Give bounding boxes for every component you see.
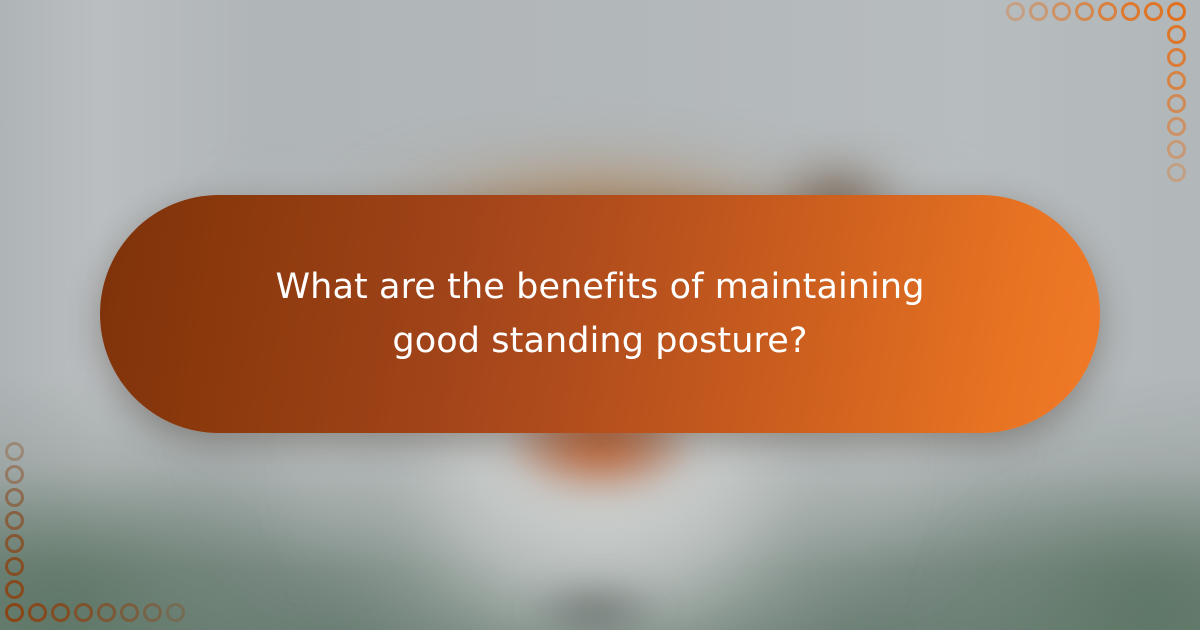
- background-shadow: [520, 575, 670, 630]
- page-title: What are the benefits of maintaining goo…: [220, 260, 980, 369]
- headline-banner: What are the benefits of maintaining goo…: [100, 195, 1100, 433]
- background-floor-left: [0, 470, 290, 630]
- background-floor-right: [900, 470, 1200, 630]
- promo-card: What are the benefits of maintaining goo…: [0, 0, 1200, 630]
